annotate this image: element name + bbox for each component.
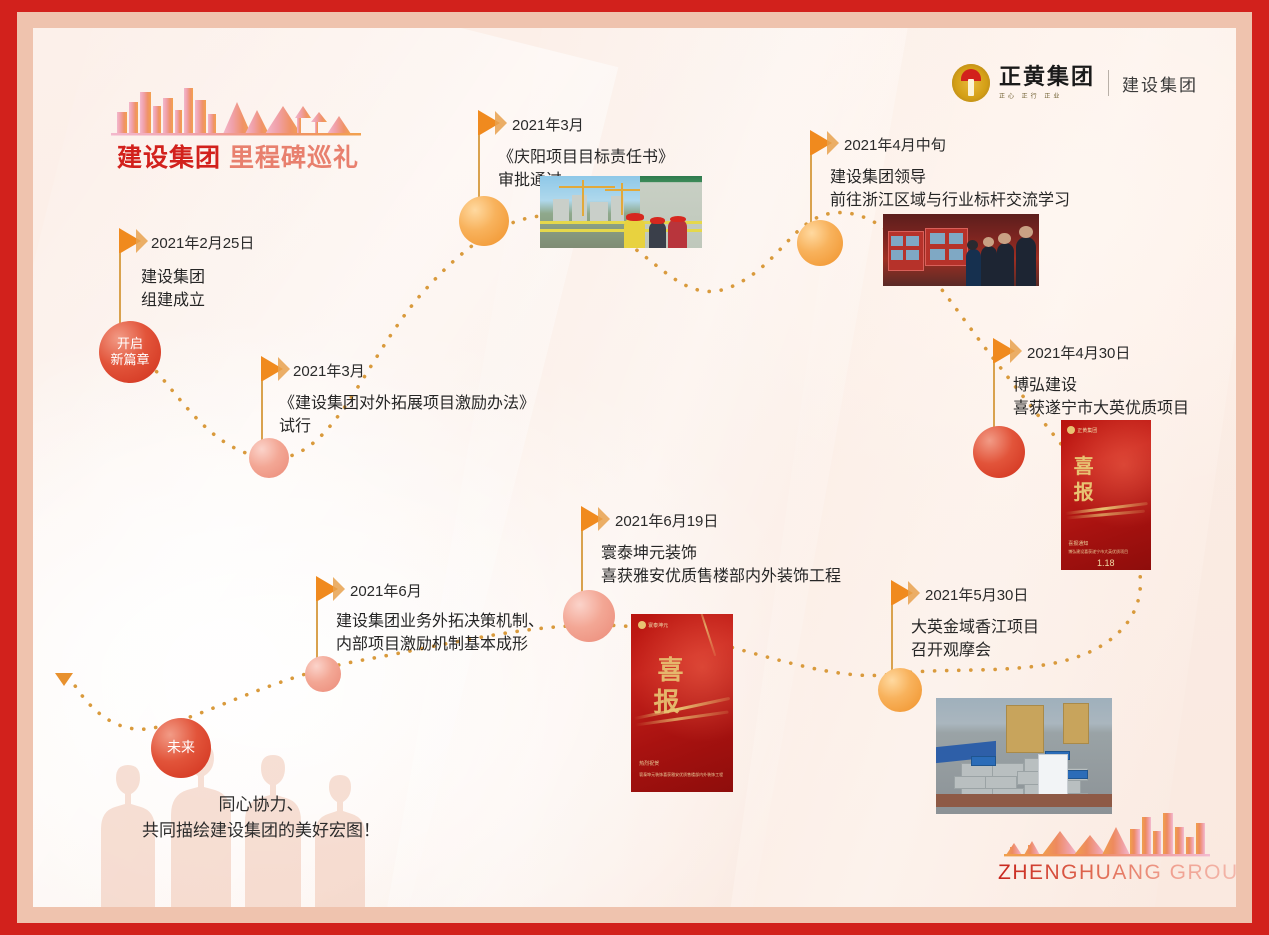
milestone-desc-line2: 组建成立: [141, 289, 205, 312]
skyline-icon: [111, 80, 371, 138]
path-node-dot: [305, 656, 341, 692]
milestone-desc-line1: 建设集团: [141, 266, 205, 289]
page-title-block: 建设集团 里程碑巡礼: [111, 80, 441, 190]
brand-name: 正黄集团: [999, 66, 1095, 88]
poster-logo-text: 寰泰坤元: [648, 622, 668, 629]
milestone-desc: 寰泰坤元装饰 喜获雅安优质售楼部内外装饰工程: [601, 542, 841, 588]
page-title-part2: 里程碑巡礼: [229, 144, 359, 172]
milestone-desc-line2: 喜获雅安优质售楼部内外装饰工程: [601, 565, 841, 588]
flag-icon: [598, 507, 610, 531]
brand-motto: 正心 正行 正业: [999, 91, 1095, 100]
path-node-dot: [249, 438, 289, 478]
page-title-part1: 建设集团: [117, 144, 221, 172]
flag-icon: [278, 357, 290, 381]
poster-root: 建设集团 里程碑巡礼 正黄集团 正心 正行 正业 建设集团 2021年2月25日…: [0, 0, 1269, 935]
poster-logo-icon: 寰泰坤元: [638, 621, 668, 629]
future-message-line2: 共同描绘建设集团的美好宏图！: [101, 818, 421, 844]
future-message-line1: 同心协力、: [101, 792, 421, 818]
milestone-desc-line2: 前往浙江区域与行业标杆交流学习: [830, 189, 1070, 212]
milestone-photo-xibao-poster-huantai: 寰泰坤元 喜 报 热烈祝贺 寰泰坤元装饰喜获雅安优质售楼部内外装饰工程: [631, 614, 733, 792]
milestone-date: 2021年4月中旬: [844, 134, 946, 155]
milestone-desc: 大英金域香江项目 召开观摩会: [911, 616, 1039, 662]
flag-icon: [1010, 339, 1022, 363]
milestone-desc-line1: 建设集团业务外拓决策机制、: [336, 610, 544, 633]
future-node: 未来: [151, 718, 211, 778]
future-message: 同心协力、 共同描绘建设集团的美好宏图！: [101, 792, 421, 843]
milestone-date: 2021年6月19日: [615, 510, 718, 531]
poster-logo-text: 正黄集团: [1077, 427, 1097, 434]
milestone-date: 2021年6月: [350, 580, 422, 601]
footer-skyline-icon: [998, 809, 1216, 857]
milestone-date: 2021年3月: [512, 114, 584, 135]
milestone-desc-line2: 试行: [279, 415, 535, 438]
path-node-dot: [973, 426, 1025, 478]
poster-footnote: 热烈祝贺: [639, 760, 659, 767]
flag-icon: [333, 577, 345, 601]
footer-brand: ZHENGHUANG GROUP: [998, 800, 1218, 885]
start-marker-line2: 新篇章: [110, 352, 149, 368]
milestone-desc-line1: 《庆阳项目目标责任书》: [498, 146, 674, 169]
milestone-desc-line2: 内部项目激励机制基本成形: [336, 633, 544, 656]
milestone-desc: 建设集团 组建成立: [141, 266, 205, 312]
milestone-photo-construction-site: [540, 176, 702, 248]
poster-footnote: 喜报通知: [1068, 540, 1088, 547]
milestone-desc-line2: 喜获遂宁市大英优质项目: [1013, 397, 1189, 420]
path-end-arrow-icon: [55, 673, 73, 686]
milestone-photo-observation-meeting: [936, 698, 1112, 814]
poster-logo-icon: 正黄集团: [1067, 426, 1097, 434]
brand-emblem-icon: [952, 64, 990, 102]
milestone-photo-exhibition-visit: [883, 214, 1039, 286]
start-marker-line1: 开启: [110, 336, 149, 352]
poster-amount: 1.18: [1097, 558, 1115, 568]
poster-detail: 博弘建设喜获遂宁市大英优质项目: [1068, 549, 1128, 555]
milestone-desc-line2: 召开观摩会: [911, 639, 1039, 662]
milestone-date: 2021年3月: [293, 360, 365, 381]
milestone-desc-line1: 寰泰坤元装饰: [601, 542, 841, 565]
milestone-date: 2021年4月30日: [1027, 342, 1130, 363]
milestone-date: 2021年5月30日: [925, 584, 1028, 605]
poster-headline-char2: 报: [1074, 476, 1094, 505]
poster-detail: 寰泰坤元装饰喜获雅安优质售楼部内外装饰工程: [639, 772, 723, 778]
path-node-dot: [878, 668, 922, 712]
flag-icon: [495, 111, 507, 135]
brand-divider: [1108, 70, 1109, 96]
brand-logo: 正黄集团 正心 正行 正业 建设集团: [952, 64, 1198, 102]
flag-icon: [908, 581, 920, 605]
milestone-desc: 建设集团业务外拓决策机制、 内部项目激励机制基本成形: [336, 610, 544, 656]
path-node-dot: [797, 220, 843, 266]
flag-icon: [827, 131, 839, 155]
milestone-desc-line1: 大英金域香江项目: [911, 616, 1039, 639]
page-title: 建设集团 里程碑巡礼: [117, 138, 359, 174]
start-marker-node: 开启 新篇章: [99, 321, 161, 383]
milestone-desc: 《建设集团对外拓展项目激励办法》 试行: [279, 392, 535, 438]
milestone-desc-line1: 建设集团领导: [830, 166, 1070, 189]
flag-icon: [136, 229, 148, 253]
milestone-date: 2021年2月25日: [151, 232, 254, 253]
path-node-dot: [459, 196, 509, 246]
milestone-desc-line1: 博弘建设: [1013, 374, 1189, 397]
path-node-dot: [563, 590, 615, 642]
future-label: 未来: [167, 739, 195, 757]
milestone-photo-xibao-poster-bohong: 正黄集团 喜 报 喜报通知 博弘建设喜获遂宁市大英优质项目 1.18: [1061, 420, 1151, 570]
milestone-desc: 建设集团领导 前往浙江区域与行业标杆交流学习: [830, 166, 1070, 212]
milestone-desc-line1: 《建设集团对外拓展项目激励办法》: [279, 392, 535, 415]
poster-canvas: 建设集团 里程碑巡礼 正黄集团 正心 正行 正业 建设集团 2021年2月25日…: [33, 28, 1236, 907]
brand-unit: 建设集团: [1122, 71, 1198, 96]
footer-brand-name: ZHENGHUANG GROUP: [998, 861, 1236, 885]
milestone-desc: 博弘建设 喜获遂宁市大英优质项目: [1013, 374, 1189, 420]
